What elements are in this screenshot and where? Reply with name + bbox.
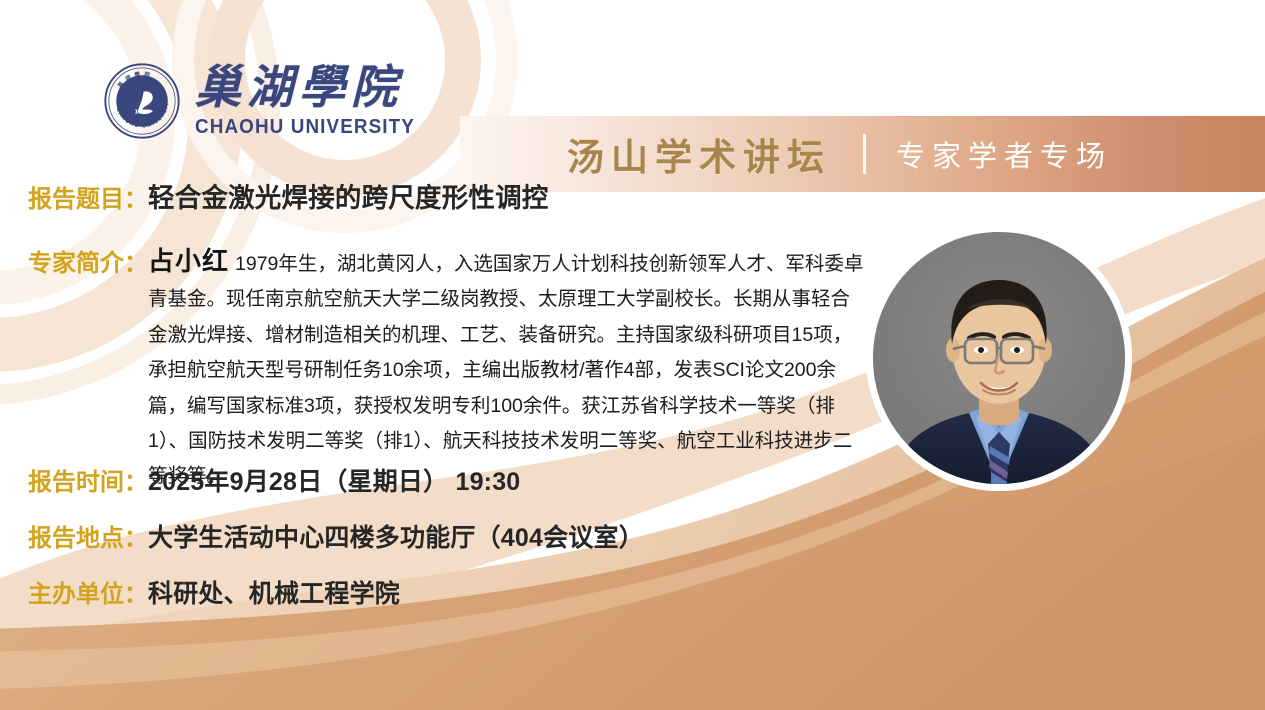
- speaker-bio-label: 专家简介：: [28, 241, 148, 278]
- speaker-name: 占小红: [148, 246, 229, 276]
- poster-root: 1977 巢 湖 學 院 CHAOHU UNIVERSITY 巢湖學院 CHAO…: [0, 0, 1265, 710]
- lecture-title-row: 报告题目： 轻合金激光焊接的跨尺度形性调控: [28, 176, 549, 215]
- lecture-place-value: 大学生活动中心四楼多功能厅（404会议室）: [148, 518, 644, 554]
- speaker-bio-text: 1979年生，湖北黄冈人，入选国家万人计划科技创新领军人才、军科委卓青基金。现任…: [148, 253, 863, 487]
- organizer-value: 科研处、机械工程学院: [148, 574, 400, 610]
- lecture-place-label: 报告地点：: [28, 518, 148, 553]
- speaker-portrait-image: [873, 232, 1125, 484]
- lecture-title-value: 轻合金激光焊接的跨尺度形性调控: [148, 176, 549, 215]
- speaker-bio-row: 专家简介： 占小红1979年生，湖北黄冈人，入选国家万人计划科技创新领军人才、军…: [28, 241, 888, 495]
- speaker-bio-body: 占小红1979年生，湖北黄冈人，入选国家万人计划科技创新领军人才、军科委卓青基金…: [148, 241, 866, 495]
- lecture-place-row: 报告地点： 大学生活动中心四楼多功能厅（404会议室）: [28, 518, 644, 554]
- lecture-time-label: 报告时间：: [28, 462, 148, 497]
- lecture-time-row: 报告时间： 2025年9月28日（星期日） 19:30: [28, 462, 520, 498]
- speaker-portrait: [873, 232, 1125, 484]
- organizer-row: 主办单位： 科研处、机械工程学院: [28, 574, 400, 610]
- lecture-title-label: 报告题目：: [28, 179, 148, 214]
- lecture-time-value: 2025年9月28日（星期日） 19:30: [148, 462, 520, 498]
- organizer-label: 主办单位：: [28, 574, 148, 609]
